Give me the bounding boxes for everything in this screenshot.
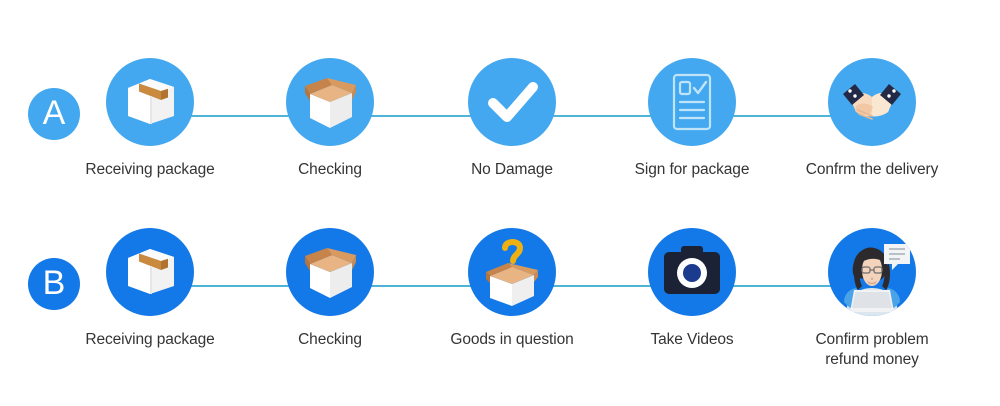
step-label: Receiving package: [60, 330, 240, 350]
step-label: Checking: [240, 330, 420, 350]
open-carton-box-icon: [286, 58, 374, 146]
step-confirm-problem-refund-b[interactable]: Confirm problem refund money: [782, 228, 962, 370]
step-icon-circle: [828, 58, 916, 146]
step-checking-a[interactable]: Checking: [240, 58, 420, 180]
step-list-row-b: Receiving package Checking: [96, 228, 984, 388]
handshake-icon: [828, 58, 916, 146]
step-label: Confrm the delivery: [782, 160, 962, 180]
process-row-a: A Receiving package: [0, 58, 1000, 218]
step-icon-circle: [648, 58, 736, 146]
step-label: Receiving package: [60, 160, 240, 180]
step-list-row-a: Receiving package Checking: [96, 58, 984, 218]
step-goods-in-question-b[interactable]: Goods in question: [422, 228, 602, 350]
step-label: Take Videos: [602, 330, 782, 350]
step-icon-circle: [106, 58, 194, 146]
sealed-package-box-icon: [106, 58, 194, 146]
step-take-videos-b[interactable]: Take Videos: [602, 228, 782, 350]
step-icon-circle: [648, 228, 736, 316]
process-row-b: B Receiving package: [0, 228, 1000, 388]
step-icon-circle: [286, 228, 374, 316]
step-checking-b[interactable]: Checking: [240, 228, 420, 350]
step-label: Checking: [240, 160, 420, 180]
step-icon-circle: [468, 58, 556, 146]
signed-document-icon: [648, 58, 736, 146]
sealed-package-box-icon: [106, 228, 194, 316]
step-label: Goods in question: [422, 330, 602, 350]
open-carton-box-icon: [286, 228, 374, 316]
step-icon-circle: [828, 228, 916, 316]
step-receiving-package-a[interactable]: Receiving package: [60, 58, 240, 180]
step-label: No Damage: [422, 160, 602, 180]
camera-icon: [648, 228, 736, 316]
step-icon-circle: [106, 228, 194, 316]
question-mark-box-icon: [468, 228, 556, 316]
step-label: Sign for package: [602, 160, 782, 180]
step-no-damage-a[interactable]: No Damage: [422, 58, 602, 180]
checkmark-icon: [468, 58, 556, 146]
step-label: Confirm problem refund money: [782, 330, 962, 370]
step-icon-circle: [286, 58, 374, 146]
step-icon-circle: [468, 228, 556, 316]
step-sign-for-package-a[interactable]: Sign for package: [602, 58, 782, 180]
delivery-process-infographic: A Receiving package: [0, 0, 1000, 406]
step-receiving-package-b[interactable]: Receiving package: [60, 228, 240, 350]
step-confirm-delivery-a[interactable]: Confrm the delivery: [782, 58, 962, 180]
support-agent-laptop-icon: [828, 228, 916, 316]
